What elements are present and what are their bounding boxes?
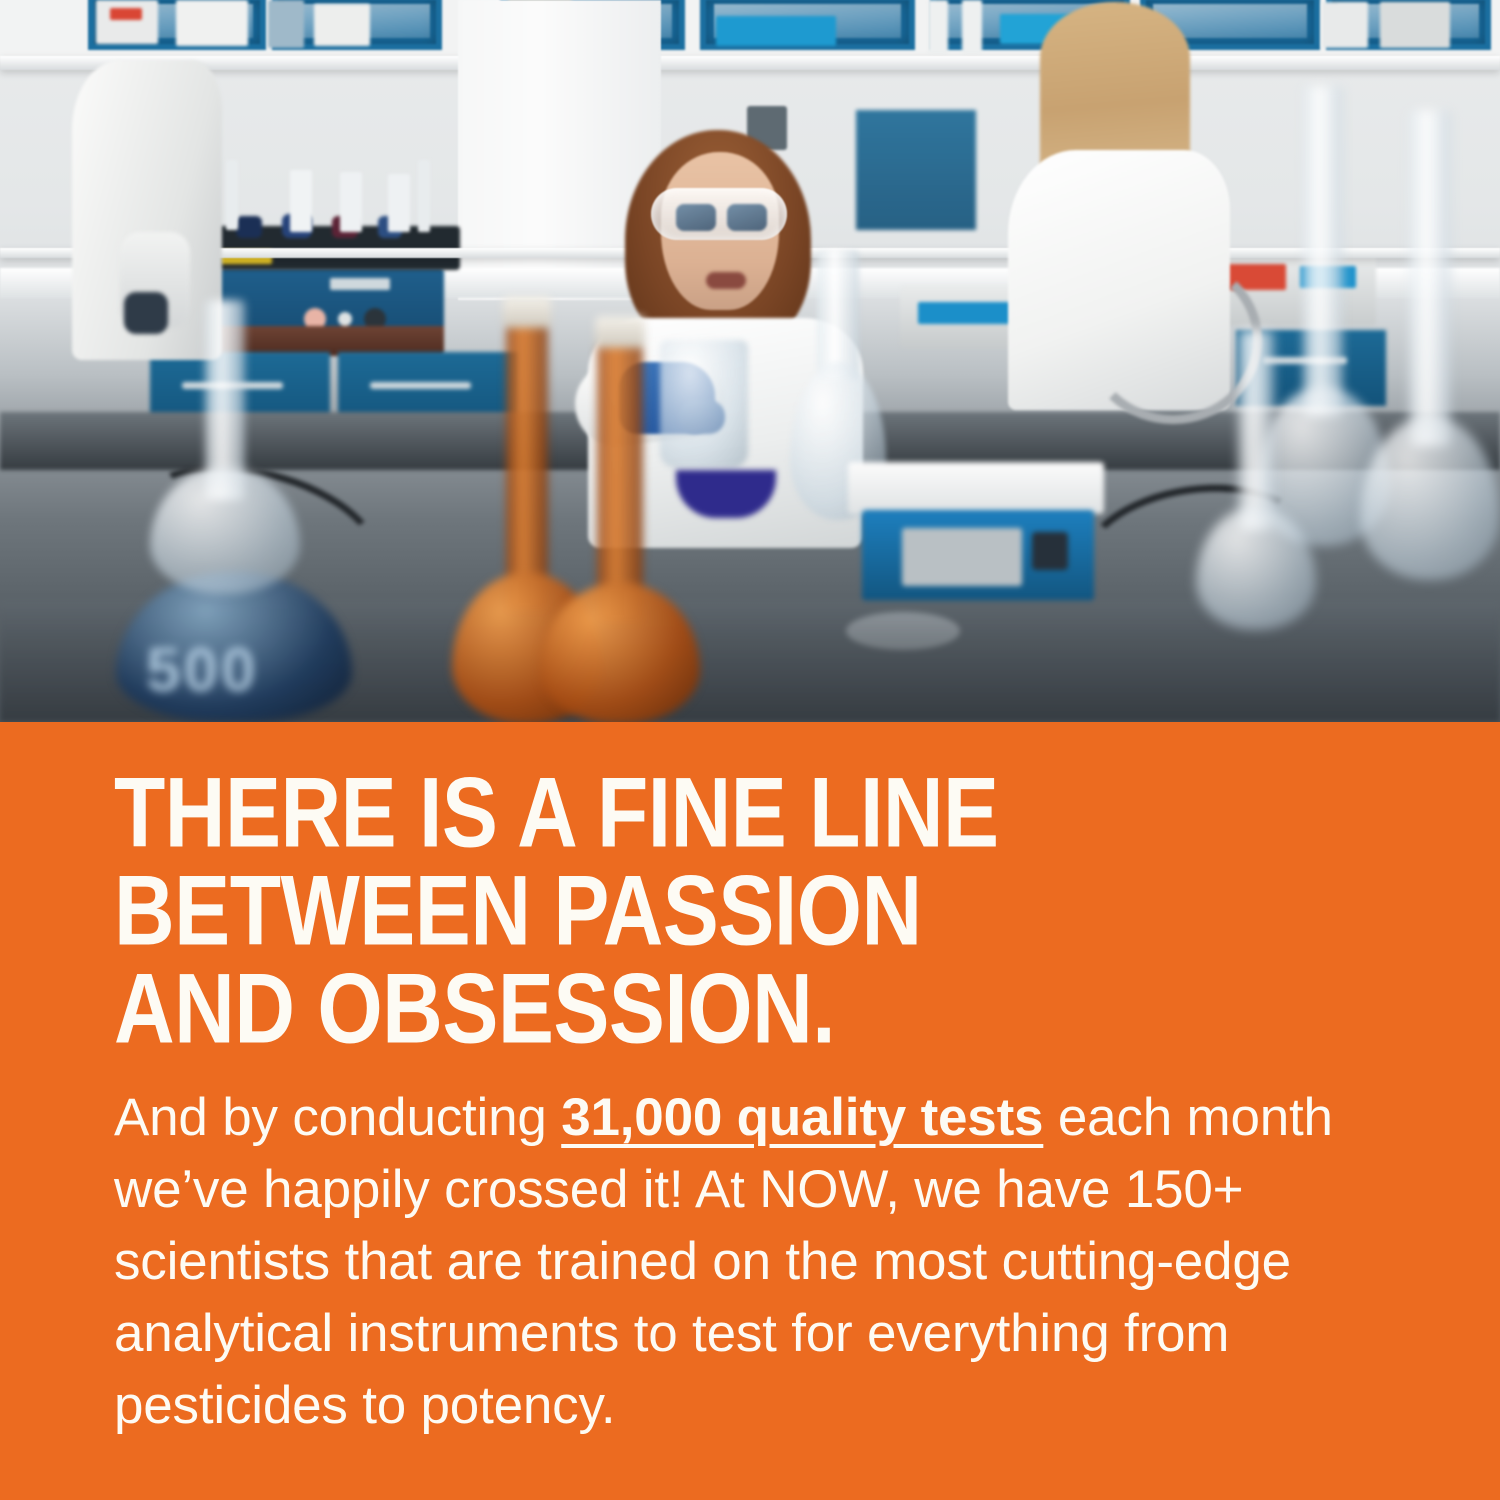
- shelf-box: [314, 4, 370, 46]
- body-copy: And by conducting 31,000 quality tests e…: [114, 1082, 1379, 1442]
- quality-tests-highlight: 31,000 quality tests: [561, 1088, 1043, 1147]
- test-tube: [388, 174, 410, 232]
- poster-root: 500 THERE IS A: [0, 0, 1500, 1500]
- volumetric-flask: [1196, 330, 1316, 630]
- amber-volumetric-flask: [540, 330, 700, 722]
- bench-instrument: [848, 462, 1104, 514]
- test-tube: [226, 160, 238, 230]
- shelf-box: [1380, 2, 1450, 48]
- shelf-box: [96, 0, 158, 44]
- base-cabinet: [856, 110, 976, 230]
- shelf-bottle: [268, 0, 304, 48]
- bench-instrument-base: [862, 510, 1094, 602]
- shelf-edge: [0, 56, 1500, 70]
- orange-text-panel: THERE IS A FINE LINE BETWEEN PASSION AND…: [0, 722, 1500, 1500]
- shelf-column: [962, 0, 982, 54]
- center-scientist-mouth: [706, 272, 746, 289]
- volumetric-flask: [150, 300, 300, 590]
- test-tube: [290, 170, 312, 232]
- test-tube: [418, 160, 430, 232]
- page-title: THERE IS A FINE LINE BETWEEN PASSION AND…: [114, 764, 1404, 1058]
- body-text-before: And by conducting: [114, 1088, 561, 1147]
- volumetric-flask: [1360, 110, 1500, 580]
- shelf-box: [176, 0, 248, 46]
- shelf-bottle: [1322, 2, 1368, 48]
- eyeglass-lens: [676, 204, 716, 231]
- flask-volume-label: 500: [146, 635, 258, 706]
- lab-photo: 500: [0, 0, 1500, 722]
- shelf-column: [928, 0, 948, 54]
- shelf-liquid: [716, 16, 836, 46]
- test-tube: [340, 172, 362, 232]
- eyeglass-lens: [727, 204, 767, 231]
- shelf-label: [110, 8, 142, 20]
